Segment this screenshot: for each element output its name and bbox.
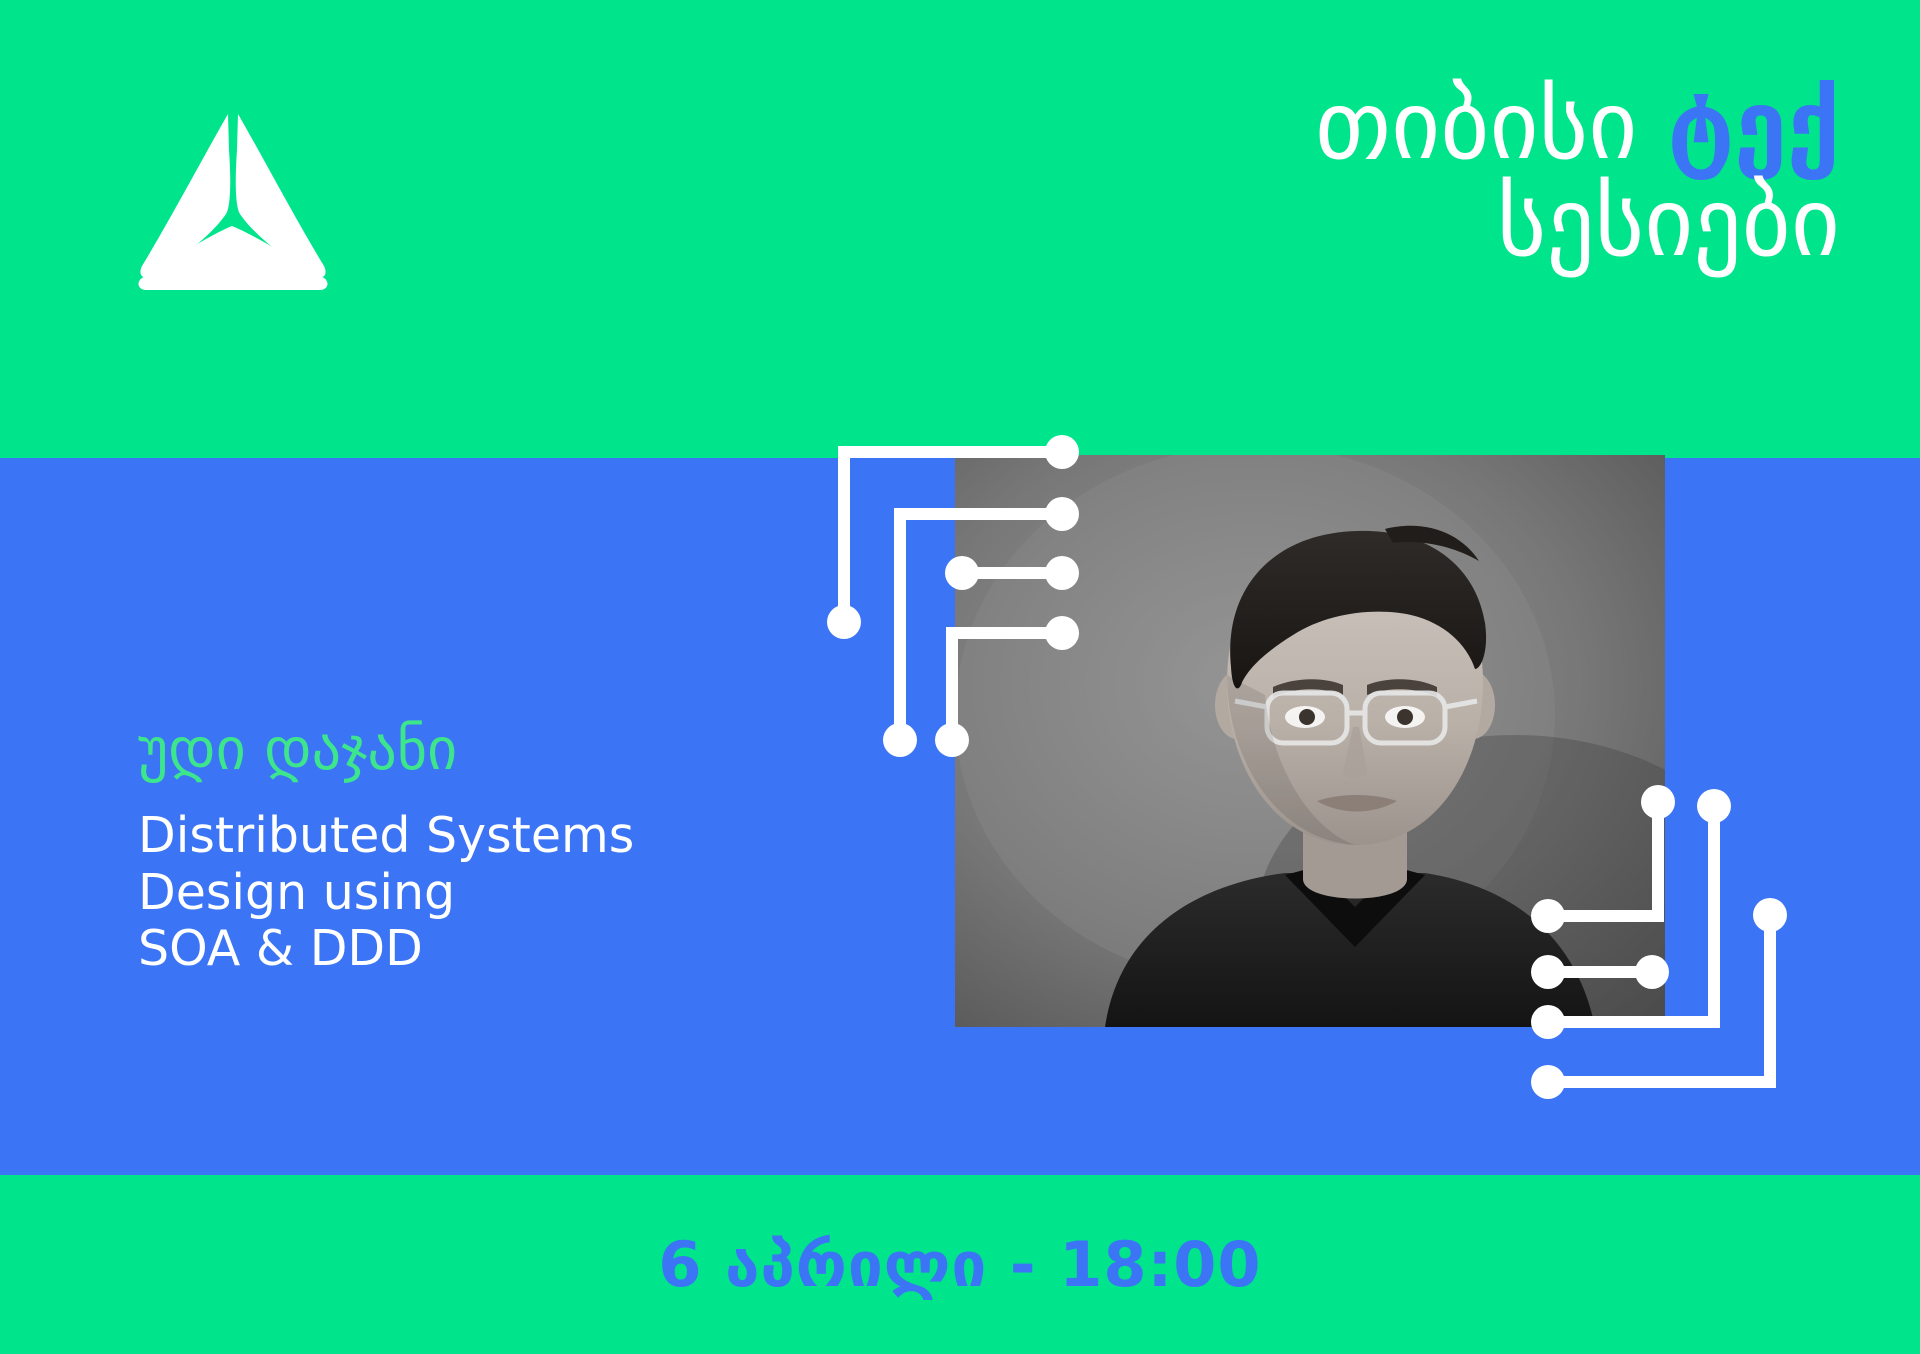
talk-title: Distributed Systems Design using SOA & D… — [138, 808, 858, 978]
speaker-info-block: უდი დაჯანი Distributed Systems Design us… — [138, 718, 858, 978]
talk-title-line-1: Distributed Systems — [138, 808, 858, 865]
title-line-1: თიბისი ტექ — [740, 78, 1840, 175]
speaker-portrait-photo — [955, 455, 1665, 1027]
event-date-time: 6 აპრილი - 18:00 — [0, 1175, 1920, 1354]
event-poster: თიბისი ტექ სესიები უდი დაჯანი Distribute… — [0, 0, 1920, 1354]
tbc-triangle-logo-icon — [132, 108, 332, 296]
title-brand-word: თიბისი — [1315, 71, 1637, 181]
talk-title-line-3: SOA & DDD — [138, 921, 858, 978]
talk-title-line-2: Design using — [138, 865, 858, 922]
title-accent-word: ტექ — [1668, 71, 1840, 181]
speaker-name: უდი დაჯანი — [138, 718, 858, 782]
poster-title: თიბისი ტექ სესიები — [740, 78, 1840, 272]
title-line-2: სესიები — [740, 175, 1840, 272]
